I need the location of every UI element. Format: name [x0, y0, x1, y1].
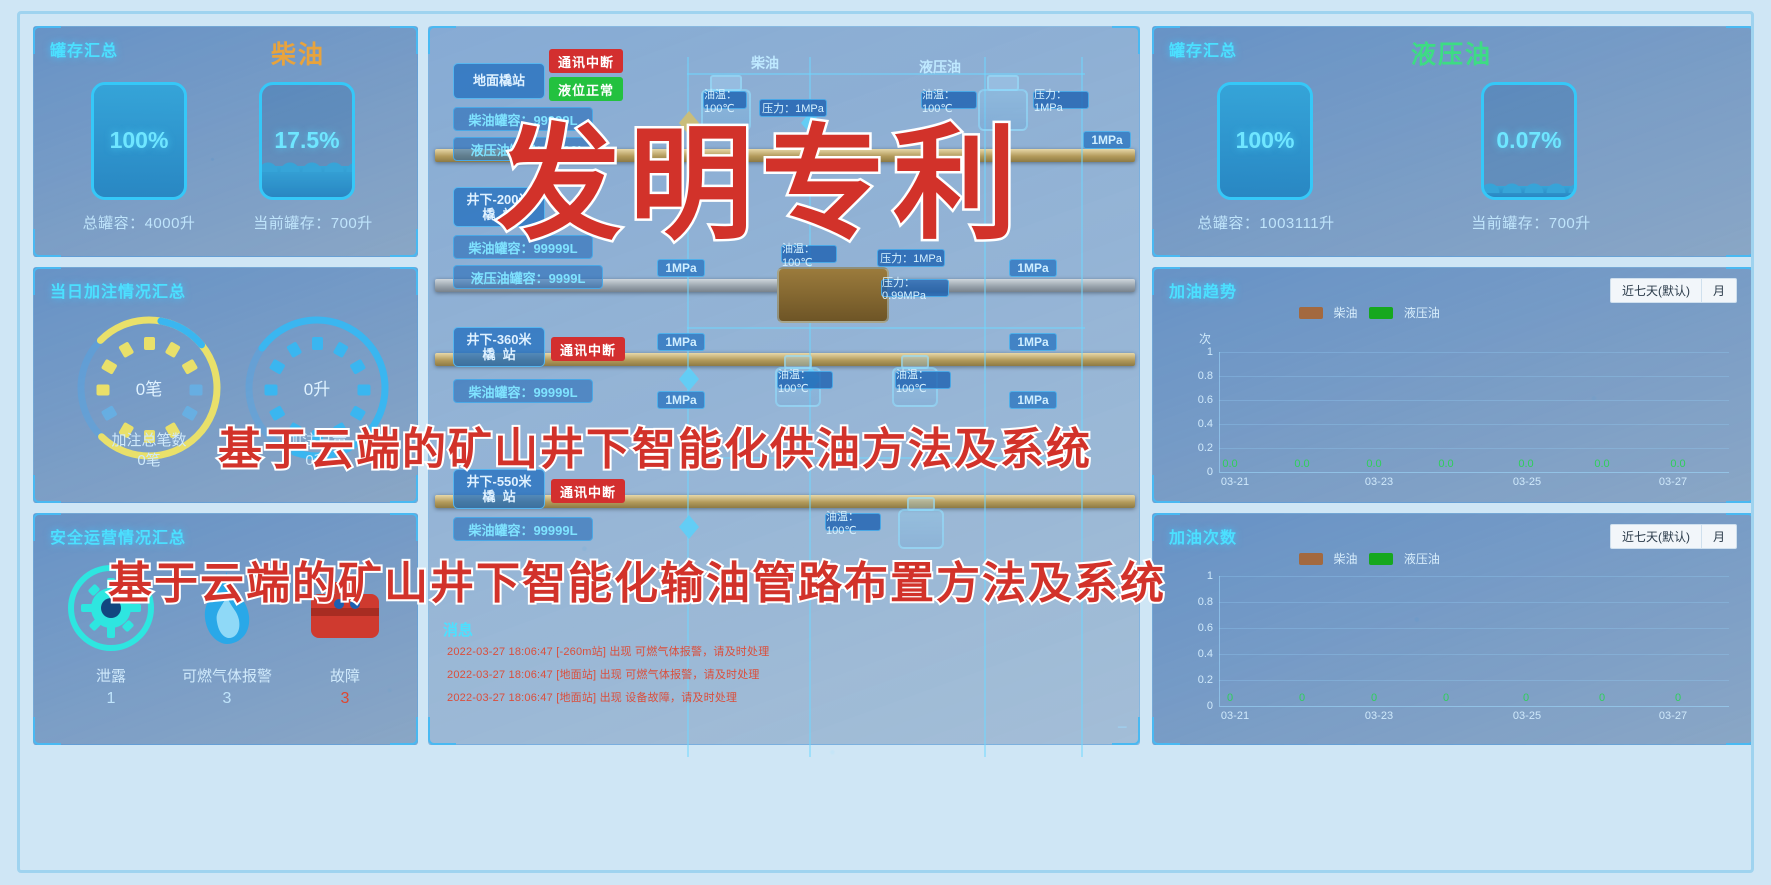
vessel-label-oil-temp-6: 油温：100℃ [825, 513, 881, 531]
pressure-tag-5: 1MPa [1009, 333, 1057, 351]
xtick-trend-1: 03-21 [1205, 476, 1265, 488]
corner-decoration [1726, 229, 1754, 257]
xtick-count-2: 03-23 [1349, 710, 1409, 722]
point-label-trend-1: 0.0 [1205, 458, 1255, 470]
message-list[interactable]: 2022-03-27 18:06:47 [-260m站] 出现 可燃气体报警，请… [447, 643, 1107, 712]
corner-decoration [390, 229, 418, 257]
point-label-trend-6: 0.0 [1577, 458, 1627, 470]
message-item: 2022-03-27 18:06:47 [-260m站] 出现 可燃气体报警，请… [447, 643, 1107, 659]
vessel-diesel-550 [898, 509, 944, 549]
tank-total-capacity: 总罐容：4000升 [46, 212, 232, 233]
corner-decoration [1152, 717, 1180, 745]
vessel-label-oil-temp-4: 油温：100℃ [777, 371, 833, 389]
panel-refuel-count: 加油次数 近七天(默认) 月 柴油 液压油 1 0.8 0.6 0.4 0.2 … [1152, 513, 1754, 745]
oil-name-hydraulic: 液压油 [1411, 35, 1492, 71]
tank-wave [1481, 179, 1577, 193]
ytick-count-08: 0.8 [1179, 596, 1213, 608]
corner-decoration [428, 717, 456, 745]
chart-plot-trend: 1 0.8 0.6 0.4 0.2 0 0.0 0.0 0.0 0.0 0.0 … [1179, 352, 1735, 492]
chart-title-refuel-trend: 加油趋势 [1169, 278, 1237, 302]
chart-title-refuel-count: 加油次数 [1169, 524, 1237, 548]
x-axis-trend [1219, 472, 1729, 473]
range-selector-count[interactable]: 近七天(默认) 月 [1610, 524, 1737, 549]
corner-decoration [390, 513, 418, 541]
legend-label-hydraulic: 液压油 [1404, 306, 1440, 320]
capacity-diesel-360: 柴油罐容：99999L [453, 379, 593, 403]
point-label-count-1: 0 [1205, 692, 1255, 704]
safety-label-gas-alarm: 可燃气体报警 [162, 665, 292, 686]
y-axis-count [1219, 576, 1220, 706]
xtick-count-4: 03-27 [1643, 710, 1703, 722]
range-option-week[interactable]: 近七天(默认) [1611, 279, 1702, 302]
point-label-count-5: 0 [1501, 692, 1551, 704]
station-button-360[interactable]: 井下-360米橇 站 [453, 327, 545, 367]
message-item: 2022-03-27 18:06:47 [地面站] 出现 设备故障，请及时处理 [447, 689, 1107, 705]
range-option-month[interactable]: 月 [1702, 279, 1736, 302]
point-label-count-6: 0 [1577, 692, 1627, 704]
tank-fill [262, 166, 352, 197]
ytick-trend-1: 1 [1179, 346, 1213, 358]
corner-decoration [33, 475, 61, 503]
legend-swatch-diesel [1299, 553, 1323, 565]
chart-plot-count: 1 0.8 0.6 0.4 0.2 0 0 0 0 0 0 0 0 03-21 … [1179, 576, 1735, 732]
gauge-value-count: 0笔 [74, 375, 224, 400]
legend-swatch-diesel [1299, 307, 1323, 319]
dashboard-screen: 罐存汇总 柴油 100% 总罐容：4000升 17.5% 当前罐存：700升 当… [0, 0, 1771, 885]
ytick-count-06: 0.6 [1179, 622, 1213, 634]
pressure-tag-6: 1MPa [657, 391, 705, 409]
tank-total-capacity: 总罐容：1003111升 [1163, 212, 1369, 233]
corner-decoration [33, 229, 61, 257]
corner-decoration [390, 475, 418, 503]
group-label-hydraulic: 液压油 [919, 57, 961, 77]
gauge-label-count-title: 加注总笔数 [74, 431, 224, 451]
ytick-count-04: 0.4 [1179, 648, 1213, 660]
corner-decoration [390, 717, 418, 745]
ytick-trend-02: 0.2 [1179, 442, 1213, 454]
tank-wave [259, 158, 355, 172]
oil-name-diesel: 柴油 [271, 35, 325, 71]
ytick-trend-04: 0.4 [1179, 418, 1213, 430]
tank-gauge-total: 100% [91, 82, 187, 200]
safety-value-gas-alarm: 3 [162, 690, 292, 708]
tank-current-stock: 当前罐存：700升 [220, 212, 406, 233]
watermark-headline: 发明专利 [497, 83, 1025, 263]
group-label-diesel: 柴油 [751, 53, 779, 73]
tank-gauge-current: 17.5% [259, 82, 355, 200]
message-item: 2022-03-27 18:06:47 [地面站] 出现 可燃气体报警，请及时处… [447, 666, 1107, 682]
panel-hydraulic-tank: 罐存汇总 液压油 100% 总罐容：1003111升 0.07% 当前罐存：70… [1152, 26, 1754, 257]
point-label-trend-5: 0.0 [1501, 458, 1551, 470]
corner-decoration [1726, 26, 1754, 54]
point-label-count-4: 0 [1421, 692, 1471, 704]
pipe-horizontal-top [687, 73, 1085, 75]
xtick-trend-2: 03-23 [1349, 476, 1409, 488]
messages-title: 消息 [443, 619, 473, 640]
range-selector-trend[interactable]: 近七天(默认) 月 [1610, 278, 1737, 303]
point-label-trend-4: 0.0 [1421, 458, 1471, 470]
status-tag-comm-lost-360: 通讯中断 [551, 337, 625, 361]
pressure-tag-7: 1MPa [1009, 391, 1057, 409]
oil-tank-main [777, 267, 889, 323]
xtick-trend-4: 03-27 [1643, 476, 1703, 488]
legend-label-diesel: 柴油 [1333, 306, 1357, 320]
chart-legend-trend: 柴油 液压油 [1299, 304, 1440, 322]
panel-title-safety: 安全运营情况汇总 [50, 524, 186, 548]
panel-title-hydraulic-tank: 罐存汇总 [1169, 37, 1237, 61]
capacity-diesel-550: 柴油罐容：99999L [453, 517, 593, 541]
tank-gauge-total: 100% [1217, 82, 1313, 200]
range-option-month[interactable]: 月 [1702, 525, 1736, 548]
point-label-trend-2: 0.0 [1277, 458, 1327, 470]
point-label-count-3: 0 [1349, 692, 1399, 704]
corner-decoration [428, 26, 456, 54]
legend-label-diesel: 柴油 [1333, 552, 1357, 566]
xtick-count-1: 03-21 [1205, 710, 1265, 722]
tank-percent-current: 17.5% [262, 127, 352, 154]
range-option-week[interactable]: 近七天(默认) [1611, 525, 1702, 548]
pressure-tag-1: 1MPa [1083, 131, 1131, 149]
tank-percent-current: 0.07% [1484, 127, 1574, 154]
corner-decoration [33, 717, 61, 745]
corner-decoration [1152, 475, 1180, 503]
panel-title-daily-refuel: 当日加注情况汇总 [50, 278, 186, 302]
safety-label-leak: 泄露 [46, 665, 176, 686]
legend-item-diesel[interactable]: 柴油 [1299, 550, 1357, 568]
gauge-value-volume: 0升 [242, 375, 392, 400]
x-axis-count [1219, 706, 1729, 707]
ytick-trend-08: 0.8 [1179, 370, 1213, 382]
point-label-trend-7: 0.0 [1653, 458, 1703, 470]
capacity-hydraulic-200: 液压油罐容：9999L [453, 265, 603, 289]
tank-percent-total: 100% [1220, 127, 1310, 154]
corner-decoration [1152, 229, 1180, 257]
gauge-label-count-value: 0笔 [74, 451, 224, 471]
panel-refuel-trend: 加油趋势 近七天(默认) 月 柴油 液压油 次 1 0.8 0.6 0.4 0.… [1152, 267, 1754, 503]
chart-legend-count: 柴油 液压油 [1299, 550, 1440, 568]
ytick-count-1: 1 [1179, 570, 1213, 582]
safety-label-fault: 故障 [280, 665, 410, 686]
panel-title-diesel-tank: 罐存汇总 [50, 37, 118, 61]
corner-decoration [390, 26, 418, 54]
safety-value-fault: 3 [280, 690, 410, 708]
watermark-line-2: 基于云端的矿山井下智能化输油管路布置方法及系统 [108, 547, 1166, 611]
point-label-count-2: 0 [1277, 692, 1327, 704]
corner-decoration [390, 267, 418, 295]
tank-gauge-current: 0.07% [1481, 82, 1577, 200]
legend-swatch-hydraulic [1369, 307, 1393, 319]
vessel-label-pressure-4: 压力：0.99MPa [881, 279, 949, 297]
chart-ylabel-trend: 次 [1199, 330, 1211, 347]
xtick-count-3: 03-25 [1497, 710, 1557, 722]
vessel-label-pressure-2: 压力：1MPa [1033, 91, 1089, 109]
point-label-count-7: 0 [1653, 692, 1703, 704]
vessel-label-oil-temp-5: 油温：100℃ [895, 371, 951, 389]
y-axis-trend [1219, 352, 1220, 472]
pipe-horizontal-mid [687, 327, 1085, 329]
legend-swatch-hydraulic [1369, 553, 1393, 565]
watermark-line-1: 基于云端的矿山井下智能化供油方法及系统 [218, 413, 1092, 477]
safety-value-leak: 1 [46, 690, 176, 708]
legend-item-diesel[interactable]: 柴油 [1299, 304, 1357, 322]
ytick-trend-06: 0.6 [1179, 394, 1213, 406]
gauge-label-count: 加注总笔数 0笔 [74, 431, 224, 471]
tank-percent-total: 100% [94, 127, 184, 154]
status-tag-comm-lost-550: 通讯中断 [551, 479, 625, 503]
pressure-tag-4: 1MPa [657, 333, 705, 351]
point-label-trend-3: 0.0 [1349, 458, 1399, 470]
messages-title-text: 消息 [443, 622, 473, 639]
ytick-count-02: 0.2 [1179, 674, 1213, 686]
xtick-trend-3: 03-25 [1497, 476, 1557, 488]
legend-item-hydraulic[interactable]: 液压油 [1369, 304, 1439, 322]
corner-decoration [1112, 26, 1140, 54]
status-tag-comm-lost-surface: 通讯中断 [549, 49, 623, 73]
tank-current-stock: 当前罐存：700升 [1431, 212, 1631, 233]
panel-diesel-tank: 罐存汇总 柴油 100% 总罐容：4000升 17.5% 当前罐存：700升 [33, 26, 418, 257]
legend-label-hydraulic: 液压油 [1404, 552, 1440, 566]
legend-item-hydraulic[interactable]: 液压油 [1369, 550, 1439, 568]
tank-fill [1484, 186, 1574, 197]
zoom-out-button[interactable]: − [1117, 717, 1128, 738]
